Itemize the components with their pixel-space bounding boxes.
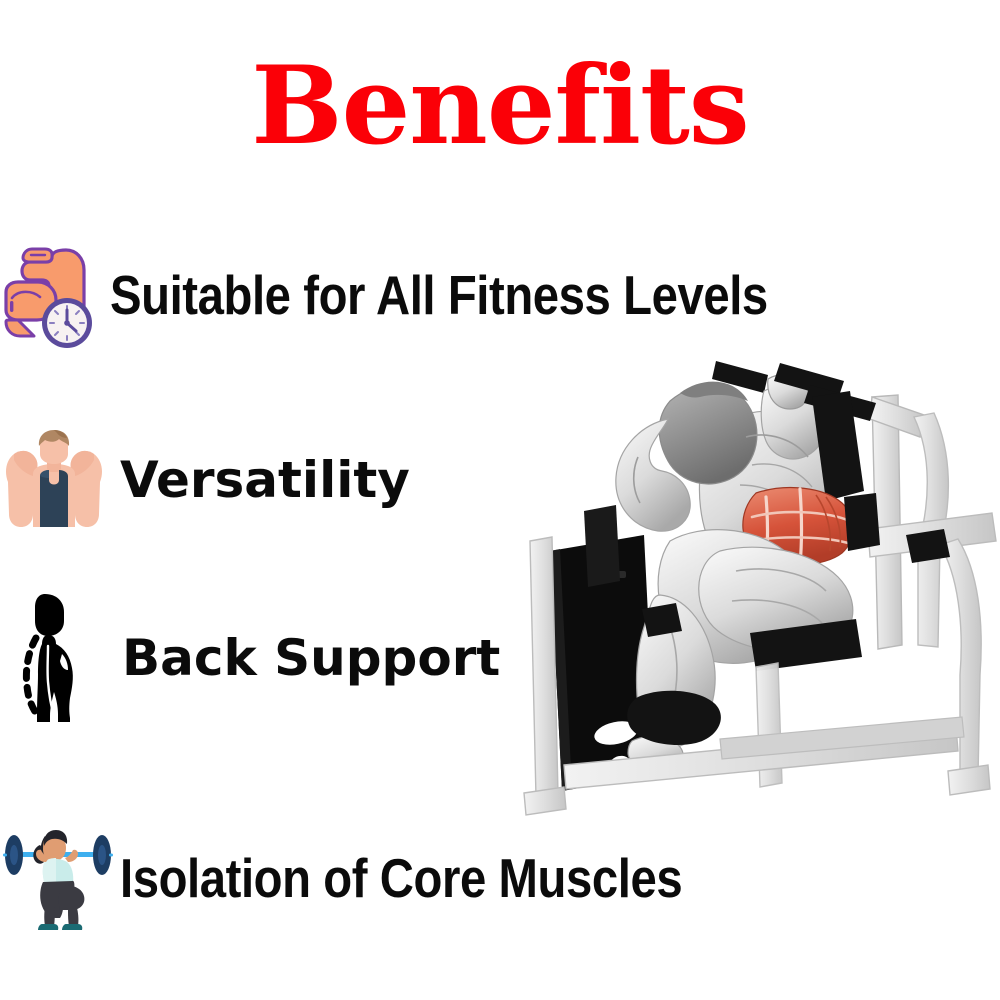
posture-spine-silhouette-icon: [18, 588, 96, 728]
bodybuilder-flexing-icon: [2, 428, 106, 532]
benefit-label: Back Support: [122, 629, 500, 687]
page-title: Benefits: [0, 52, 1000, 160]
flexed-bicep-clock-icon: [4, 240, 102, 350]
benefits-poster: Benefits: [0, 0, 1000, 1000]
benefit-label: Versatility: [120, 451, 410, 509]
benefit-label: Suitable for All Fitness Levels: [110, 263, 768, 327]
benefit-label: Isolation of Core Muscles: [120, 846, 682, 910]
benefit-item-versatility: Versatility: [2, 428, 410, 532]
machine-back-pad: [584, 505, 620, 587]
benefit-item-suitable-for-all-fitness-levels: Suitable for All Fitness Levels: [4, 240, 875, 350]
anatomical-figure: [616, 361, 880, 771]
woman-barbell-squat-icon: [2, 820, 114, 936]
seated-ab-crunch-machine-illustration: [520, 345, 1000, 840]
benefit-item-back-support: Back Support: [18, 588, 500, 728]
